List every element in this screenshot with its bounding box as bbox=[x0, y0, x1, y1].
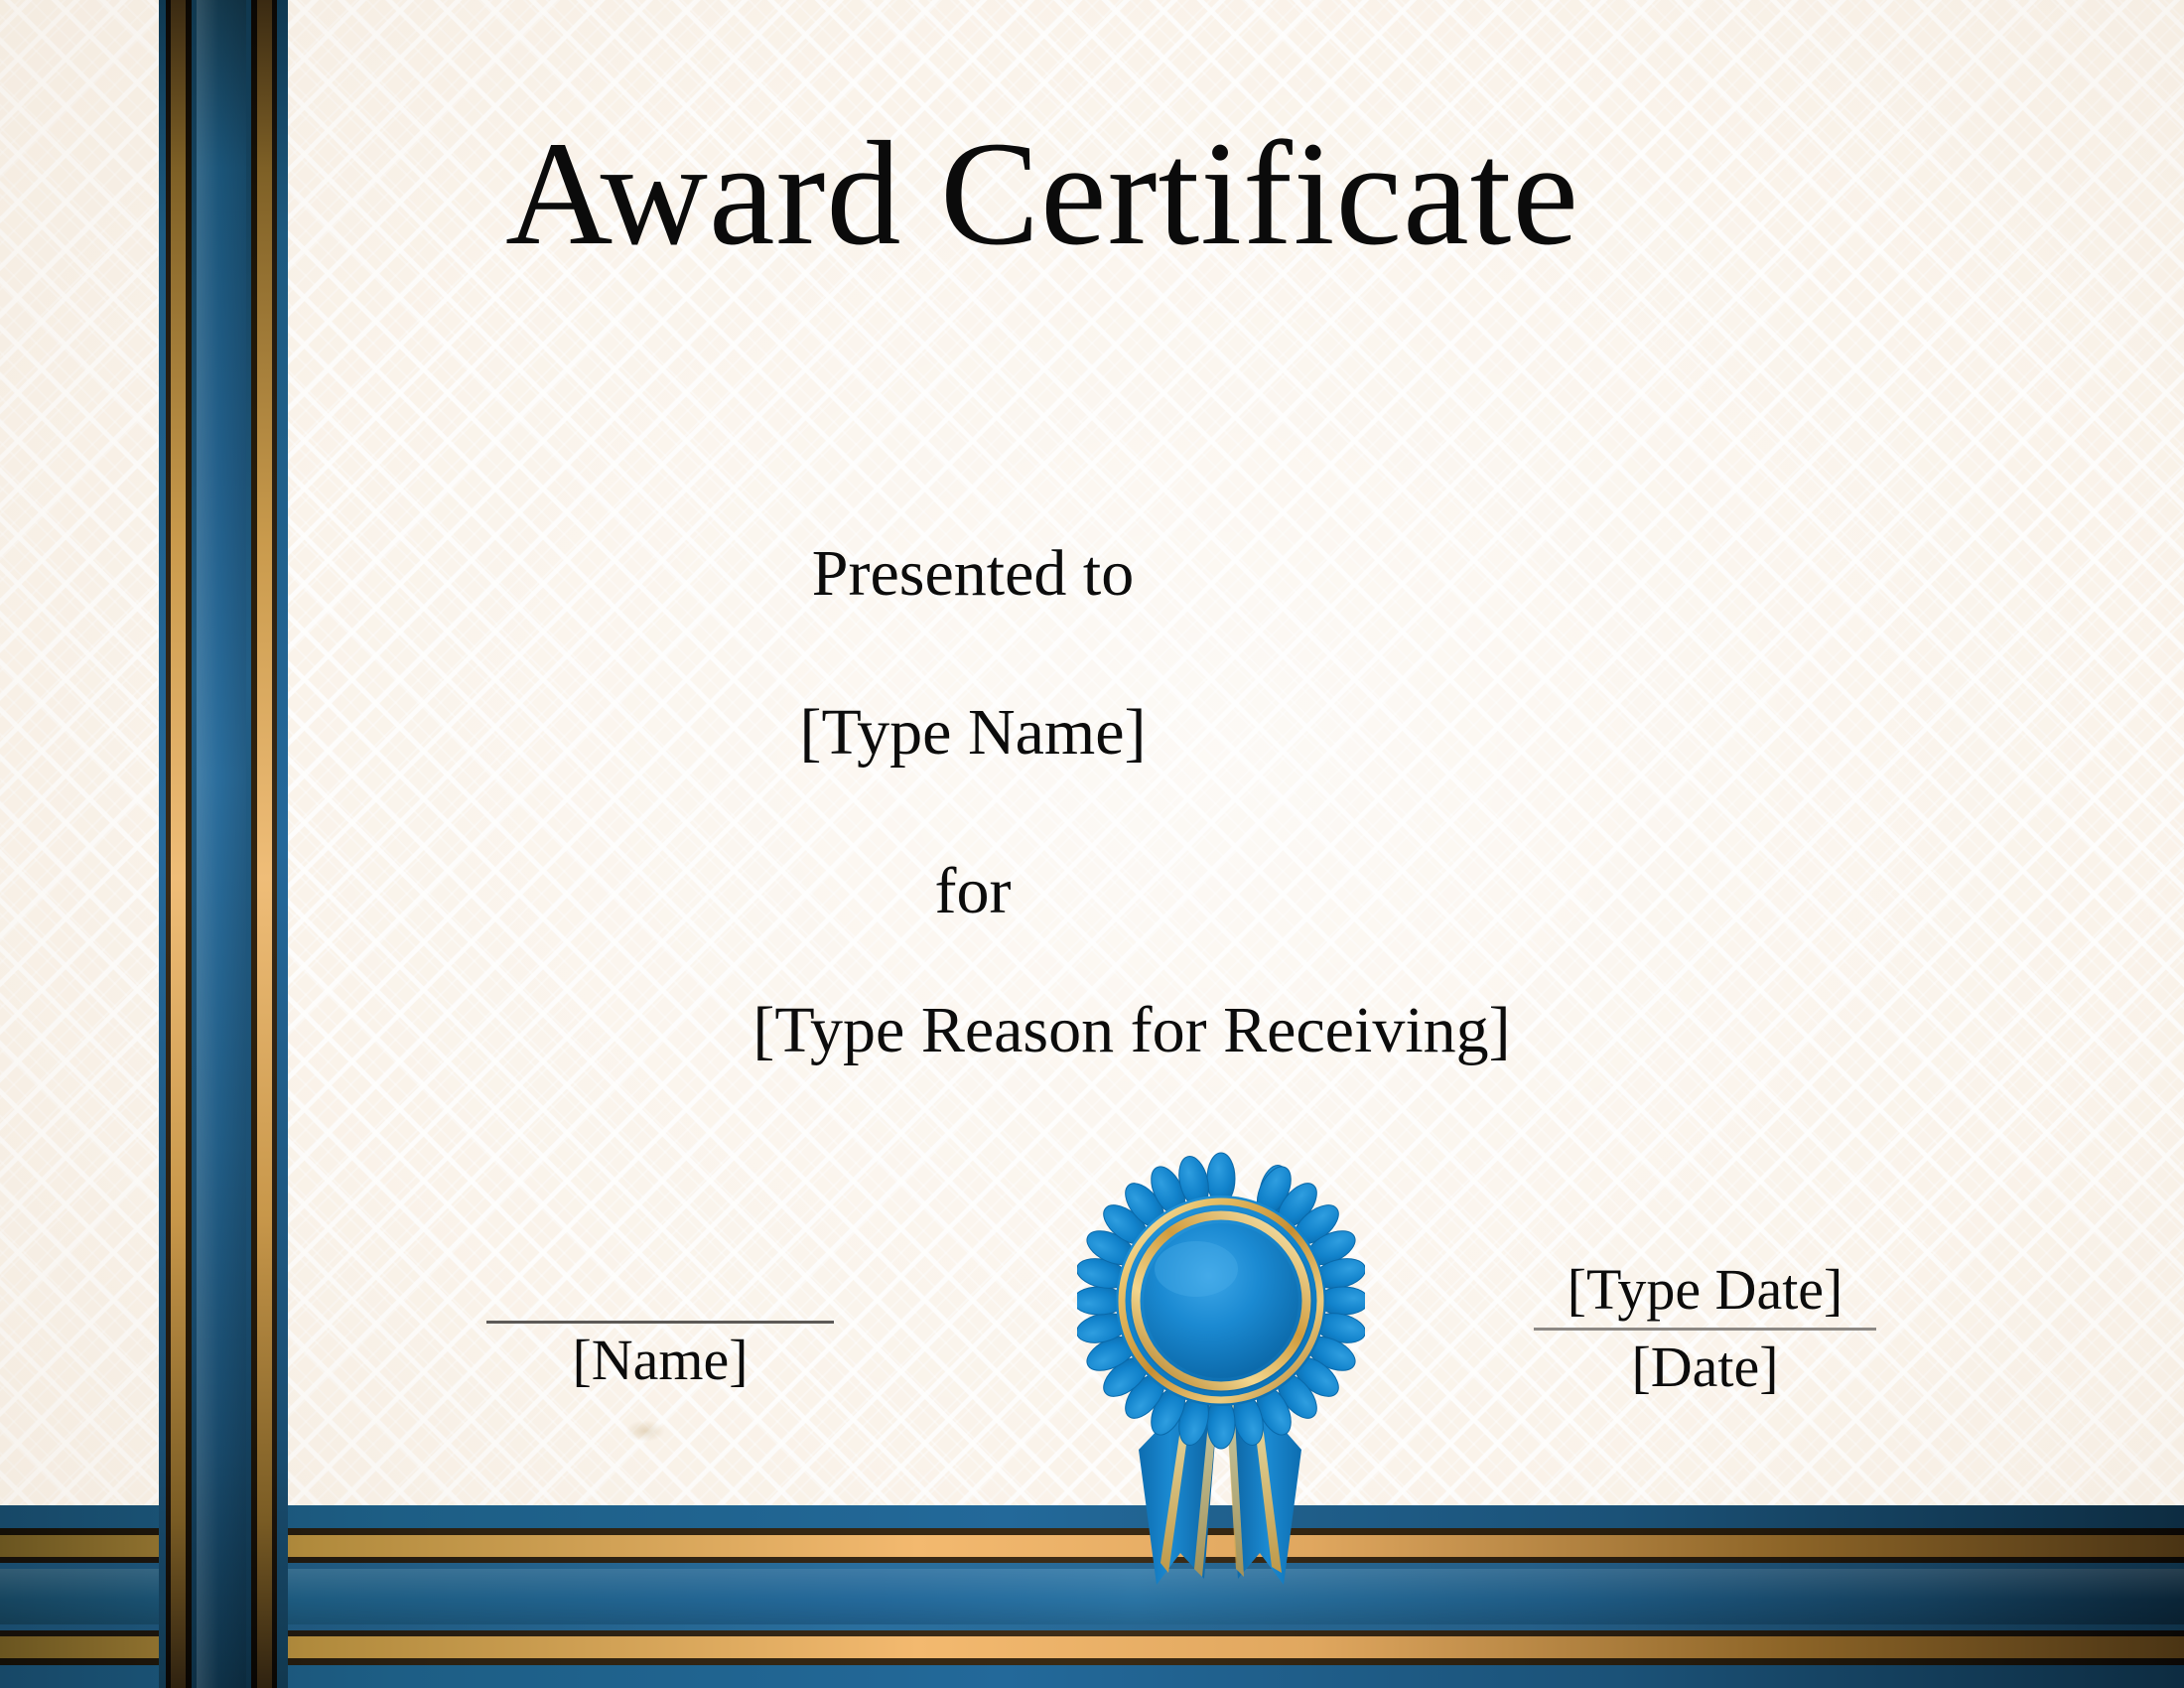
signature-block-left: [Name] bbox=[486, 1321, 834, 1394]
date-label: [Date] bbox=[1534, 1335, 1876, 1401]
presented-to-label: Presented to bbox=[695, 536, 1251, 612]
signature-line-left bbox=[486, 1321, 834, 1324]
vband-stripe-blue-right bbox=[277, 0, 288, 1688]
vband-stripe-gold-left bbox=[171, 0, 186, 1688]
ribbon-tail-left bbox=[1139, 1402, 1218, 1585]
recipient-name-field[interactable]: [Type Name] bbox=[695, 695, 1251, 771]
date-field[interactable]: [Type Date] bbox=[1534, 1257, 1876, 1324]
for-label: for bbox=[695, 854, 1251, 929]
vband-stripe-blue-left bbox=[159, 0, 166, 1688]
award-certificate: Award Certificate Presented to [Type Nam… bbox=[0, 0, 2184, 1688]
vband-stripe-blue-main-sheen bbox=[197, 0, 246, 1688]
signature-block-right: [Type Date] [Date] bbox=[1534, 1257, 1876, 1400]
certificate-title: Award Certificate bbox=[298, 119, 1787, 268]
left-border-band bbox=[159, 0, 288, 1688]
vband-stripe-gold-right bbox=[257, 0, 272, 1688]
signature-name-label[interactable]: [Name] bbox=[486, 1328, 834, 1394]
award-rosette-icon bbox=[1077, 1152, 1365, 1628]
signature-line-right bbox=[1534, 1328, 1876, 1331]
reason-field[interactable]: [Type Reason for Receiving] bbox=[635, 993, 1628, 1068]
